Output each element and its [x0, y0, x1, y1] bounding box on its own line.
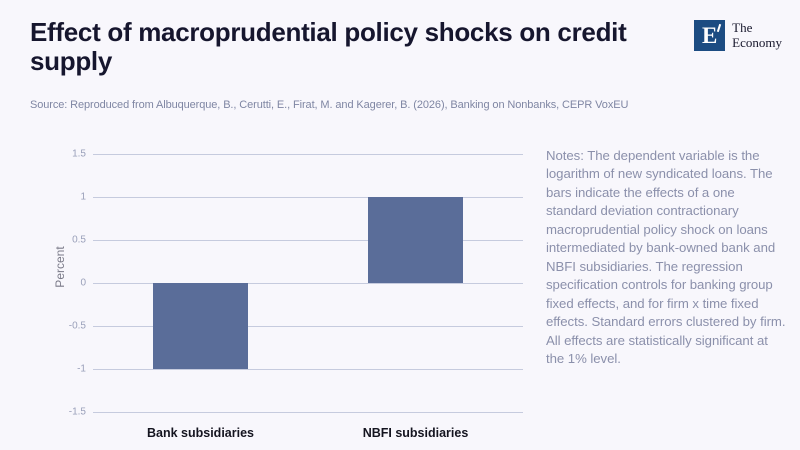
chart-notes: Notes: The dependent variable is the log…	[546, 147, 786, 369]
chart-header: Effect of macroprudential policy shocks …	[0, 0, 800, 140]
y-axis-tick-label: -1.5	[69, 407, 86, 418]
chart-area: Percent 1.510.50-0.5-1-1.5Bank subsidiar…	[0, 140, 535, 450]
y-axis-tick-label: -1	[77, 364, 86, 375]
gridline: -1.5	[93, 412, 523, 413]
bar-2[interactable]	[368, 197, 463, 283]
plot-canvas: 1.510.50-0.5-1-1.5Bank subsidiariesNBFI …	[93, 154, 523, 412]
economy-logo-mark: E	[694, 20, 725, 51]
gridline: -1	[93, 369, 523, 370]
logo-wordmark-line1: The	[732, 21, 782, 36]
brand-logo: E The Economy	[694, 20, 782, 51]
source-note: Source: Reproduced from Albuquerque, B.,…	[30, 98, 670, 114]
title-block: Effect of macroprudential policy shocks …	[30, 18, 660, 77]
logo-letter-e: E	[694, 24, 725, 47]
y-axis-tick-label: 0	[80, 278, 86, 289]
bar-1[interactable]	[153, 283, 248, 369]
logo-wordmark-line2: Economy	[732, 36, 782, 51]
page-title: Effect of macroprudential policy shocks …	[30, 18, 660, 77]
x-axis-category-label: NBFI subsidiaries	[363, 426, 469, 440]
y-axis-title: Percent	[53, 237, 67, 297]
logo-wordmark: The Economy	[732, 20, 782, 50]
y-axis-tick-label: 1	[80, 192, 86, 203]
y-axis-tick-label: 1.5	[72, 149, 86, 160]
y-axis-tick-label: -0.5	[69, 321, 86, 332]
gridline: 1.5	[93, 154, 523, 155]
y-axis-tick-label: 0.5	[72, 235, 86, 246]
x-axis-category-label: Bank subsidiaries	[147, 426, 254, 440]
